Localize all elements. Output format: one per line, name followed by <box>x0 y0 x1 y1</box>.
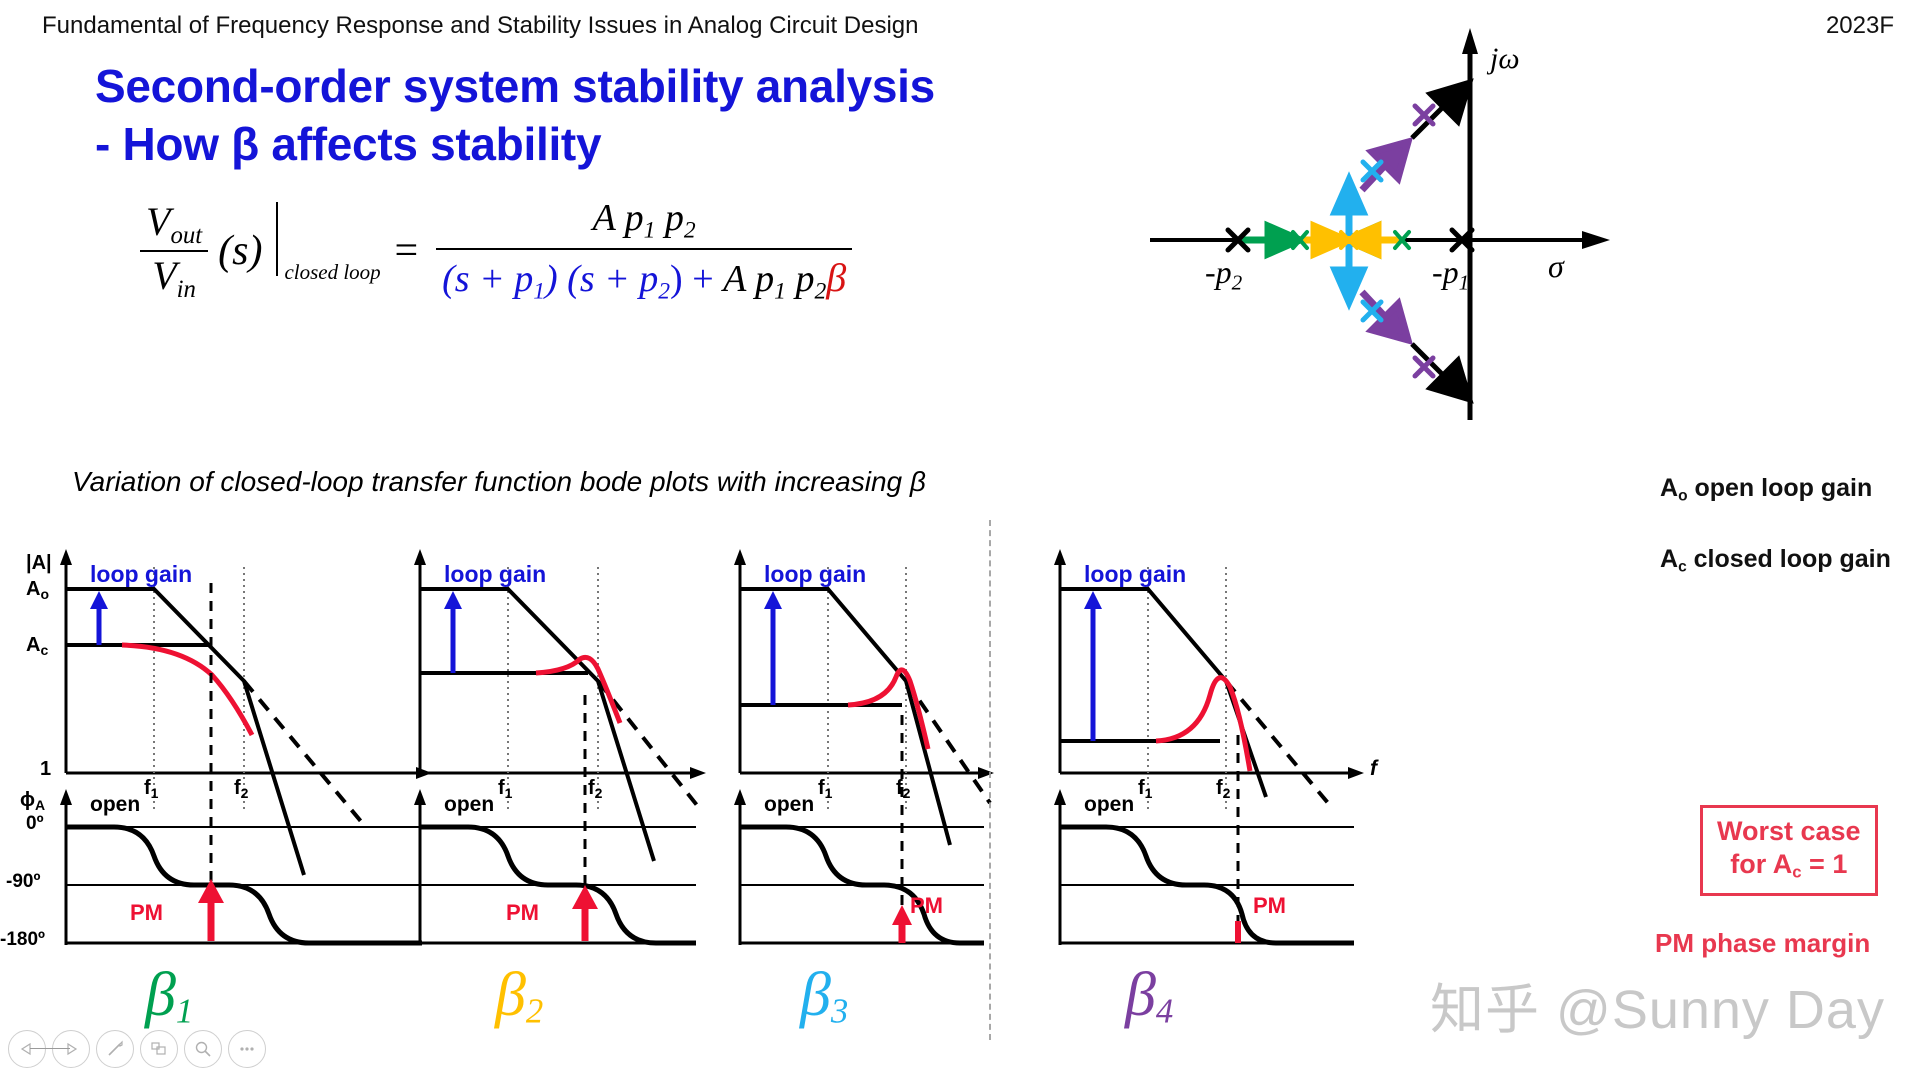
f1-sym-4: f <box>1138 777 1145 799</box>
pen-tool-button[interactable] <box>96 1030 134 1068</box>
title-line-2: - How β affects stability <box>95 116 935 174</box>
pm-label-2: PM <box>506 900 539 926</box>
worst-case-sub: c <box>1792 863 1801 882</box>
bode-svg-4 <box>998 545 1428 975</box>
open-label-2: open <box>444 793 494 817</box>
f1-sym-2: f <box>498 777 505 799</box>
f1-sub-2: 1 <box>505 785 513 801</box>
phase-axis-label-1: ϕA <box>20 789 45 813</box>
f1-label-1: f1 <box>144 777 158 801</box>
loop-gain-label-1: loop gain <box>90 561 192 588</box>
f1-sub-1: 1 <box>151 785 159 801</box>
pole-p2-label: -p2 <box>1205 254 1242 295</box>
open-loop-asymptote-1 <box>66 589 304 875</box>
eq-vin-sub: in <box>177 275 196 302</box>
legend-ao-sym: A <box>1660 474 1678 502</box>
phase-sub-1: A <box>35 797 45 813</box>
ao-sym-1: A <box>26 578 40 600</box>
eq-rhs-num-p2: p <box>655 197 684 239</box>
worst-case-eq1: = 1 <box>1802 849 1848 879</box>
watermark: 知乎 @Sunny Day <box>1430 965 1885 1044</box>
legend-open-loop-gain: Ao open loop gain <box>1660 474 1872 505</box>
presentation-toolbar[interactable] <box>8 1030 266 1068</box>
single-pole-dashed-4 <box>1226 681 1328 803</box>
f2-sym-1: f <box>234 777 241 799</box>
closed-loop-curve-1 <box>122 645 252 735</box>
eq-vout-sub: out <box>170 222 202 249</box>
beta-sym-1: β <box>145 961 176 1029</box>
open-label-4: open <box>1084 793 1134 817</box>
f1-sub-4: 1 <box>1145 785 1153 801</box>
legend-ac-sym: A <box>1660 545 1678 573</box>
eq-den-sub1: 1 <box>533 278 545 304</box>
f2-label-2: f2 <box>588 777 602 801</box>
ac-sym-1: A <box>26 634 40 656</box>
f1-sym-3: f <box>818 777 825 799</box>
eq-condition-group: closed loop <box>272 208 392 294</box>
pole-p1-label: -p1 <box>1432 254 1469 295</box>
beta-sub-3: 3 <box>831 992 848 1031</box>
f2-label-3: f2 <box>896 777 910 801</box>
mag-axis-label-1: |A| <box>26 552 52 575</box>
more-options-button[interactable] <box>228 1030 266 1068</box>
f1-label-4: f1 <box>1138 777 1152 801</box>
eq-rhs-fraction: A p1 p2 (s + p1) (s + p2) + A p1 p2β <box>436 196 852 305</box>
legend-ao-sub: o <box>1678 487 1687 504</box>
eq-evaluation-bar <box>276 202 278 276</box>
subtitle: Variation of closed-loop transfer functi… <box>72 466 926 498</box>
beta-sym-2: β <box>495 961 526 1029</box>
title-line-1: Second-order system stability analysis <box>95 58 935 116</box>
f-axis-label: f <box>1370 757 1377 781</box>
beta-sym-3: β <box>800 961 831 1029</box>
pole-p1-text: -p <box>1432 254 1459 290</box>
eq-den-p2b: p <box>786 258 815 300</box>
eq-den-plus: ) + <box>670 258 723 300</box>
eq-lhs-arg: (s) <box>218 227 262 275</box>
root-locus-svg <box>1150 20 1630 430</box>
beta-sub-4: 4 <box>1156 992 1173 1031</box>
prev-slide-button[interactable] <box>8 1030 46 1068</box>
f2-sym-3: f <box>896 777 903 799</box>
closed-loop-curve-3 <box>848 670 928 749</box>
one-label-1: 1 <box>40 758 51 781</box>
f1-label-2: f1 <box>498 777 512 801</box>
worst-case-box: Worst case for Ac = 1 <box>1700 805 1878 896</box>
loop-gain-label-4: loop gain <box>1084 561 1186 588</box>
beta-label-4: β4 <box>1125 960 1173 1032</box>
open-label-1: open <box>90 793 140 817</box>
magnifier-icon[interactable] <box>184 1030 222 1068</box>
eq-den-sub3: 1 <box>774 278 786 304</box>
phase-0-label-1: 0º <box>26 813 44 835</box>
f2-sub-1: 2 <box>241 785 249 801</box>
ac-label-1: Ac <box>26 634 48 658</box>
pm-label-1: PM <box>130 900 163 926</box>
beta-label-1: β1 <box>145 960 193 1032</box>
pm-label-4: PM <box>1253 893 1286 919</box>
beta-sym-4: β <box>1125 961 1156 1029</box>
f2-sub-4: 2 <box>1223 785 1231 801</box>
pole-p1-sub: 1 <box>1459 270 1470 294</box>
worst-case-line2: for Ac = 1 <box>1717 848 1861 883</box>
slides-overview-button[interactable] <box>140 1030 178 1068</box>
legend-ac-text: closed loop gain <box>1687 545 1891 573</box>
nav-connector-line <box>30 1048 70 1049</box>
phase-90-label-1: -90º <box>6 871 40 893</box>
eq-vin: V <box>152 253 176 298</box>
closed-loop-curve-4 <box>1156 678 1250 771</box>
eq-rhs-num-sub1: 1 <box>644 218 656 244</box>
single-pole-dashed-3 <box>906 681 990 803</box>
eq-equals: = <box>394 227 418 275</box>
bode-panel-beta4: loop gain f1 f2 open PM f <box>998 545 1428 975</box>
open-label-3: open <box>764 793 814 817</box>
beta-sub-2: 2 <box>526 992 543 1031</box>
f1-label-3: f1 <box>818 777 832 801</box>
f1-sym-1: f <box>144 777 151 799</box>
worst-case-line1: Worst case <box>1717 815 1861 848</box>
f1-sub-3: 1 <box>825 785 833 801</box>
worst-case-for: for A <box>1730 849 1792 879</box>
eq-rhs-num-sub2: 2 <box>684 218 696 244</box>
pole-p2-sub: 2 <box>1232 270 1243 294</box>
phase-180-label-1: -180º <box>0 929 45 951</box>
loop-gain-label-2: loop gain <box>444 561 546 588</box>
eq-den-ap1: A p <box>723 258 774 300</box>
eq-condition-text: closed loop <box>284 260 380 285</box>
eq-lhs-fraction: Vout Vin <box>140 198 208 304</box>
pm-label-3: PM <box>910 893 943 919</box>
ao-sub-1: o <box>40 586 49 602</box>
f2-sym-4: f <box>1216 777 1223 799</box>
course-header: Fundamental of Frequency Response and St… <box>42 12 918 40</box>
eq-vout: V <box>146 199 170 244</box>
legend-pm-phase-margin: PM phase margin <box>1655 928 1870 959</box>
eq-den-p1: (s + p <box>442 258 533 300</box>
legend-ac-sub: c <box>1678 558 1687 575</box>
single-pole-dashed-1 <box>244 681 364 825</box>
page-title: Second-order system stability analysis -… <box>95 58 935 174</box>
beta-label-2: β2 <box>495 960 543 1032</box>
pole-p2-text: -p <box>1205 254 1232 290</box>
root-locus-diagram: jω σ -p2 -p1 <box>1150 20 1630 430</box>
eq-den-sub2: 2 <box>658 278 670 304</box>
legend-ao-text: open loop gain <box>1688 474 1873 502</box>
beta-sub-1: 1 <box>176 992 193 1031</box>
f2-sub-2: 2 <box>595 785 603 801</box>
f2-label-4: f2 <box>1216 777 1230 801</box>
eq-den-sub4: 2 <box>814 278 826 304</box>
loop-gain-label-3: loop gain <box>764 561 866 588</box>
legend-closed-loop-gain: Ac closed loop gain <box>1660 545 1891 576</box>
term-label: 2023F <box>1826 12 1894 40</box>
eq-den-p2: ) (s + p <box>545 258 658 300</box>
imag-axis-label: jω <box>1490 42 1520 76</box>
ac-sub-1: c <box>40 642 48 658</box>
beta-label-3: β3 <box>800 960 848 1032</box>
next-slide-button[interactable] <box>52 1030 90 1068</box>
transfer-function-equation: Vout Vin (s) closed loop = A p1 p2 (s + … <box>140 196 980 306</box>
f2-label-1: f2 <box>234 777 248 801</box>
ao-label-1: Ao <box>26 578 49 602</box>
f2-sym-2: f <box>588 777 595 799</box>
eq-den-beta: β <box>826 255 846 300</box>
real-axis-label: σ <box>1548 248 1564 285</box>
eq-rhs-num-a: A p <box>593 197 644 239</box>
panel-separator-dotted <box>989 520 991 1040</box>
phase-sym-1: ϕ <box>20 789 35 811</box>
f2-sub-3: 2 <box>903 785 911 801</box>
